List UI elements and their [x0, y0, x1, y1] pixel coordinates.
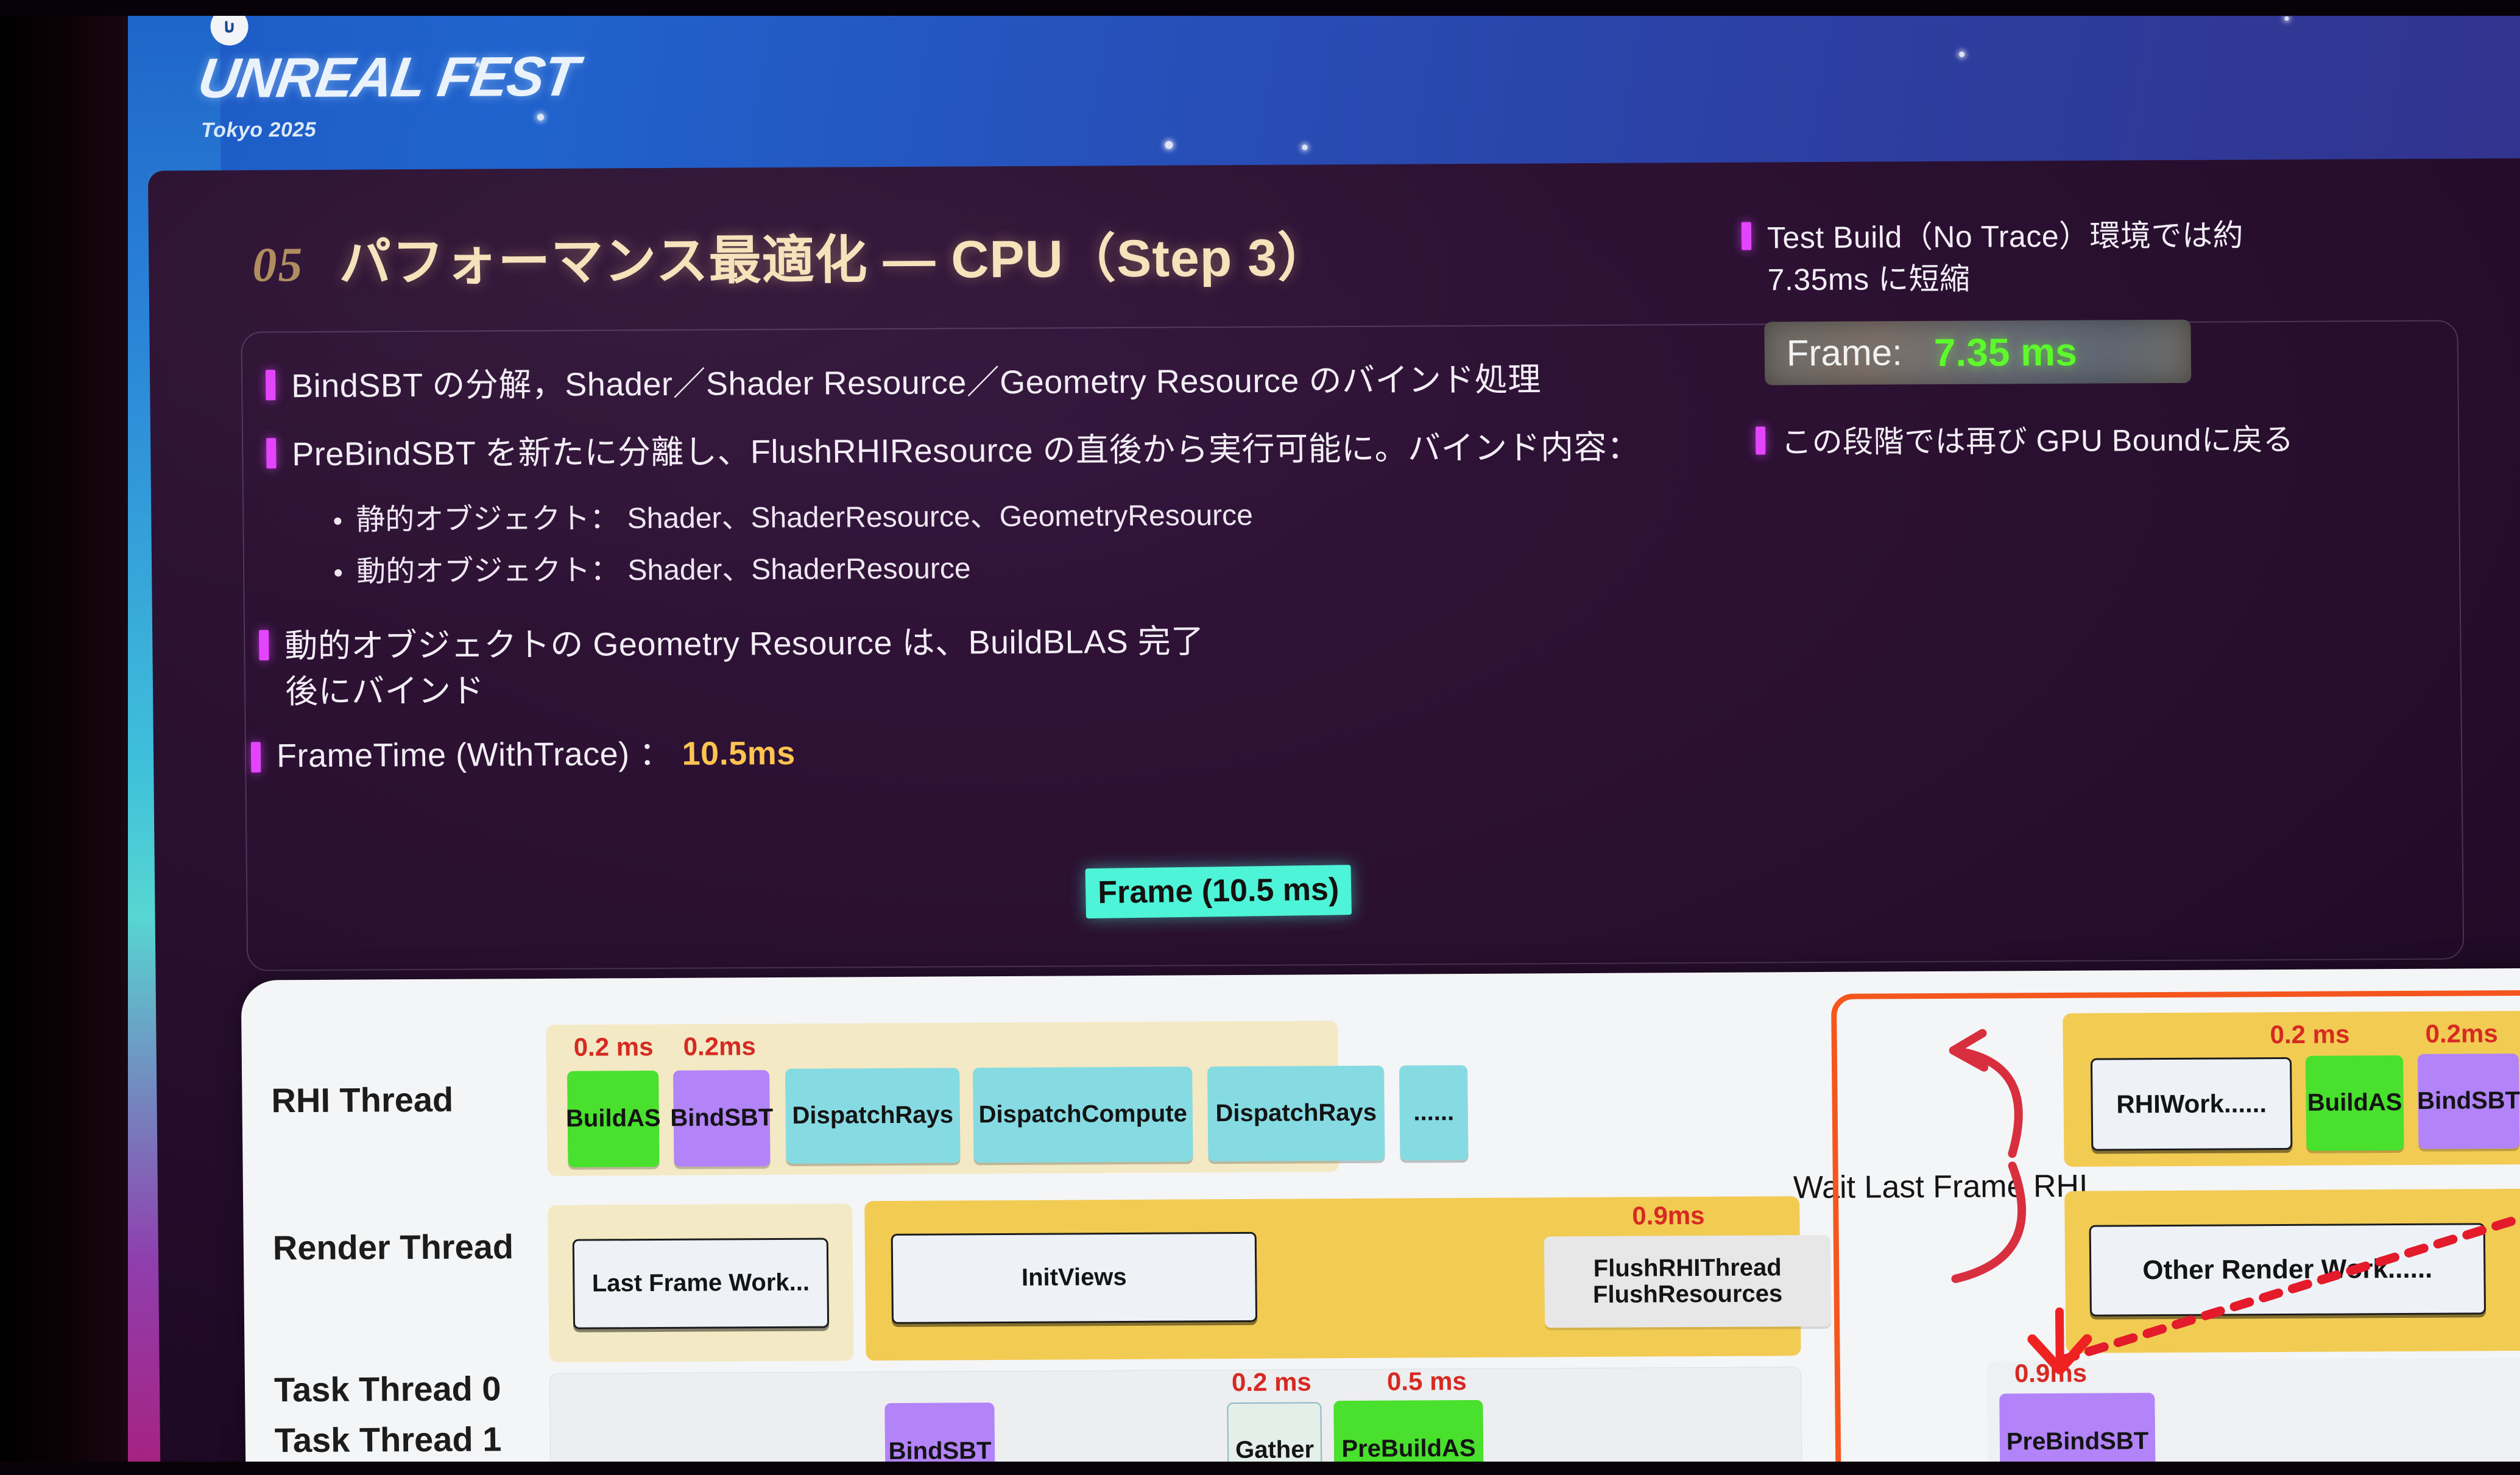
right-bullet-line2: 7.35ms に短縮 [1767, 256, 2244, 301]
bullet-tick-icon [266, 370, 275, 400]
room-edge-top [0, 0, 2520, 16]
timeline-block[interactable]: Last Frame Work... [573, 1238, 829, 1329]
slide-title-row: 05 パフォーマンス最適化 ― CPU（Step 3） [252, 231, 1331, 289]
timeline-block[interactable]: DispatchRays [785, 1068, 960, 1163]
frame-overlay-label: Frame: [1787, 334, 1903, 371]
lane-label-task-thread-1: Task Thread 1 [275, 1422, 502, 1457]
lane-label-task-thread-0: Task Thread 0 [274, 1371, 501, 1407]
bullet-item: この段階では再び GPU Boundに戻る [1756, 418, 2414, 464]
star-decor-icon [537, 114, 544, 121]
bullet-item: Test Build（No Trace）環境では約 7.35ms に短縮 [1742, 214, 2400, 301]
sub-bullet-item: 静的オブジェクト： Shader、ShaderResource、Geometry… [334, 495, 1675, 540]
timeline-block[interactable]: FlushRHIThread FlushResources [1544, 1235, 1831, 1328]
star-decor-icon [1302, 144, 1308, 150]
thread-timeline-card: RHI Thread Render Thread Task Thread 0 T… [241, 968, 2520, 1475]
bullet-tick-icon [259, 630, 269, 660]
room-edge-left [0, 0, 128, 1475]
sub-bullet-dot-icon [334, 518, 341, 525]
duration-label: 0.5 ms [1387, 1368, 1467, 1395]
duration-label: 0.2 ms [573, 1034, 653, 1060]
slide-number: 05 [252, 241, 304, 289]
timeline-block[interactable]: InitViews [891, 1232, 1257, 1324]
frame-badge-withtrace: Frame (10.5 ms) [1085, 865, 1352, 918]
lane-label-render-thread: Render Thread [273, 1230, 514, 1265]
slide-body: 05 パフォーマンス最適化 ― CPU（Step 3） BindSBT の分解，… [148, 158, 2520, 1475]
bullet-text-line2: 後にバインド [285, 664, 1205, 714]
frame-overlay-value: 7.35 ms [1934, 333, 2077, 372]
bullet-text: BindSBT の分解，Shader／Shader Resource／Geome… [291, 357, 1541, 409]
duration-label: 0.2ms [683, 1033, 755, 1060]
duration-label: 0.9ms [1632, 1203, 1704, 1229]
frametime-label: FrameTime (WithTrace) ： [277, 731, 672, 779]
sub-bullet-text: 動的オブジェクト： Shader、ShaderResource [356, 550, 971, 591]
event-title: UNREAL FEST [195, 49, 581, 107]
bullet-item: 動的オブジェクトの Geometry Resource は、BuildBLAS … [259, 616, 1691, 714]
sub-bullet-dot-icon [334, 569, 342, 577]
frametime-row: FrameTime (WithTrace) ： 10.5ms [251, 727, 1470, 779]
bullet-tick-icon [251, 742, 261, 773]
right-column: Test Build（No Trace）環境では約 7.35ms に短縮 Fra… [1742, 214, 2401, 428]
frametime-value: 10.5ms [682, 731, 796, 776]
bullet-tick-icon [1742, 222, 1751, 250]
bullet-tick-icon [1756, 426, 1765, 454]
bullet-item: BindSBT の分解，Shader／Shader Resource／Geome… [266, 356, 1728, 409]
page-title: パフォーマンス最適化 ― CPU（Step 3） [339, 231, 1331, 289]
timeline-block[interactable]: BuildAS [567, 1071, 660, 1167]
timeline-block[interactable]: ...... [1399, 1065, 1468, 1161]
sub-bullet-text: 静的オブジェクト： Shader、ShaderResource、Geometry… [356, 497, 1253, 540]
bullet-item: PreBindSBT を新たに分離し、FlushRHIResource の直後か… [266, 424, 1741, 477]
duration-label: 0.2 ms [1232, 1369, 1311, 1395]
frame-overlay-badge: Frame: 7.35 ms [1764, 320, 2191, 385]
timeline-block[interactable]: DispatchRays [1207, 1066, 1385, 1162]
task-lane-band-left [549, 1367, 1802, 1475]
timeline-block[interactable]: BindSBT [673, 1070, 771, 1167]
timeline-block[interactable]: DispatchCompute [973, 1066, 1193, 1163]
highlight-region-box [1831, 990, 2520, 1475]
presentation-screen: UNREAL FEST Tokyo 2025 05 パフォーマンス最適化 ― C… [73, 0, 2520, 1475]
right-bullet-line1: Test Build（No Trace）環境では約 [1767, 214, 2244, 259]
star-decor-icon [2285, 16, 2289, 21]
bullet-text: 動的オブジェクトの Geometry Resource は、BuildBLAS … [284, 619, 1204, 669]
lane-label-rhi-thread: RHI Thread [271, 1083, 453, 1118]
right-bullet-2: この段階では再び GPU Boundに戻る [1781, 419, 2294, 463]
star-decor-icon [1165, 141, 1173, 149]
bullet-text: PreBindSBT を新たに分離し、FlushRHIResource の直後か… [292, 425, 1640, 477]
projected-slide-photo: UNREAL FEST Tokyo 2025 05 パフォーマンス最適化 ― C… [0, 0, 2520, 1475]
room-edge-bottom [0, 1462, 2520, 1475]
sub-bullet-item: 動的オブジェクト： Shader、ShaderResource [334, 546, 1675, 591]
star-decor-icon [1959, 52, 1964, 57]
bullet-tick-icon [266, 438, 276, 468]
event-subtitle: Tokyo 2025 [201, 119, 316, 141]
